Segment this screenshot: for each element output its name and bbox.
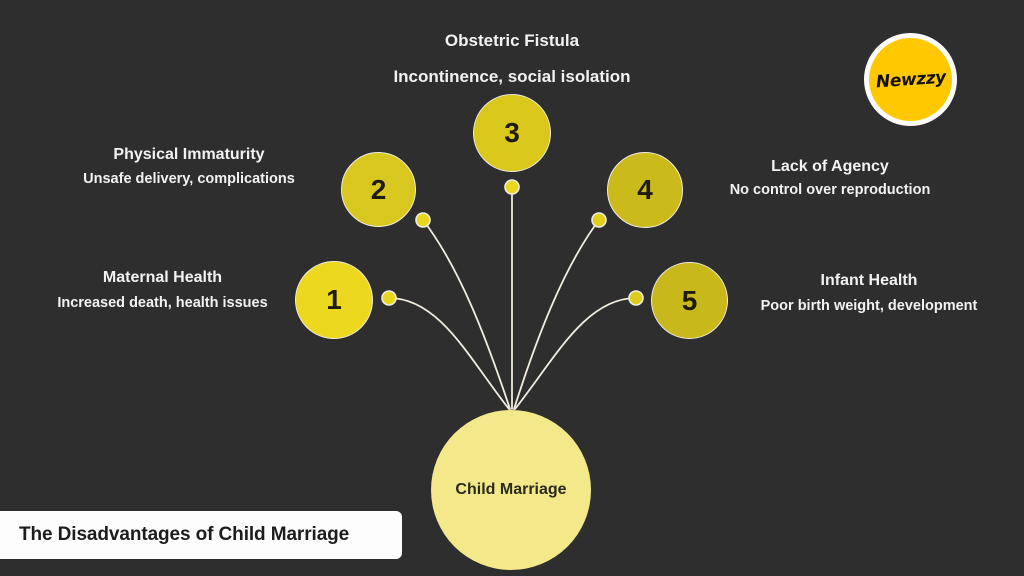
node-number-5: 5 [682,287,698,315]
node-circle-2[interactable]: 2 [341,152,416,227]
connector-dot-5 [629,291,643,305]
node-label-1-desc: Increased death, health issues [35,293,290,314]
infographic-canvas: 1 2 3 4 5 Child Marriage Obstetric Fistu… [0,0,1024,576]
node-label-5-title: Infant Health [740,270,998,292]
center-node-label: Child Marriage [455,481,566,499]
logo-disc: Newzzy [869,38,952,121]
node-label-3-desc: Incontinence, social isolation [312,65,712,89]
center-node-child-marriage[interactable]: Child Marriage [431,410,591,570]
connector-path-4 [514,220,599,409]
node-label-2-title: Physical Immaturity [60,144,318,166]
node-number-3: 3 [504,119,520,147]
connector-path-1 [389,298,509,409]
connector-dot-4 [592,213,606,227]
node-label-3: Obstetric Fistula Incontinence, social i… [312,30,712,89]
node-number-4: 4 [637,176,653,204]
connector-dot-1 [382,291,396,305]
node-label-4: Lack of Agency No control over reproduct… [700,156,960,200]
node-number-1: 1 [326,286,342,314]
title-banner: The Disadvantages of Child Marriage [0,511,402,559]
node-label-2: Physical Immaturity Unsafe delivery, com… [60,144,318,189]
node-label-5-desc: Poor birth weight, development [740,296,998,317]
node-label-4-title: Lack of Agency [700,156,960,178]
node-label-3-title: Obstetric Fistula [312,30,712,53]
node-number-2: 2 [371,176,387,204]
connector-dot-2 [416,213,430,227]
node-circle-5[interactable]: 5 [651,262,728,339]
node-label-5: Infant Health Poor birth weight, develop… [740,270,998,316]
node-label-4-desc: No control over reproduction [700,180,960,201]
node-label-2-desc: Unsafe delivery, complications [60,169,318,190]
connector-path-2 [423,220,510,409]
node-label-1: Maternal Health Increased death, health … [35,267,290,313]
logo-wordmark: Newzzy [875,67,946,92]
node-circle-3[interactable]: 3 [473,94,551,172]
node-circle-4[interactable]: 4 [607,152,683,228]
connector-dot-3 [505,180,519,194]
newzzy-logo[interactable]: Newzzy [864,33,957,126]
banner-title-text: The Disadvantages of Child Marriage [19,524,349,546]
connector-path-5 [515,298,636,409]
node-circle-1[interactable]: 1 [295,261,373,339]
node-label-1-title: Maternal Health [35,267,290,289]
